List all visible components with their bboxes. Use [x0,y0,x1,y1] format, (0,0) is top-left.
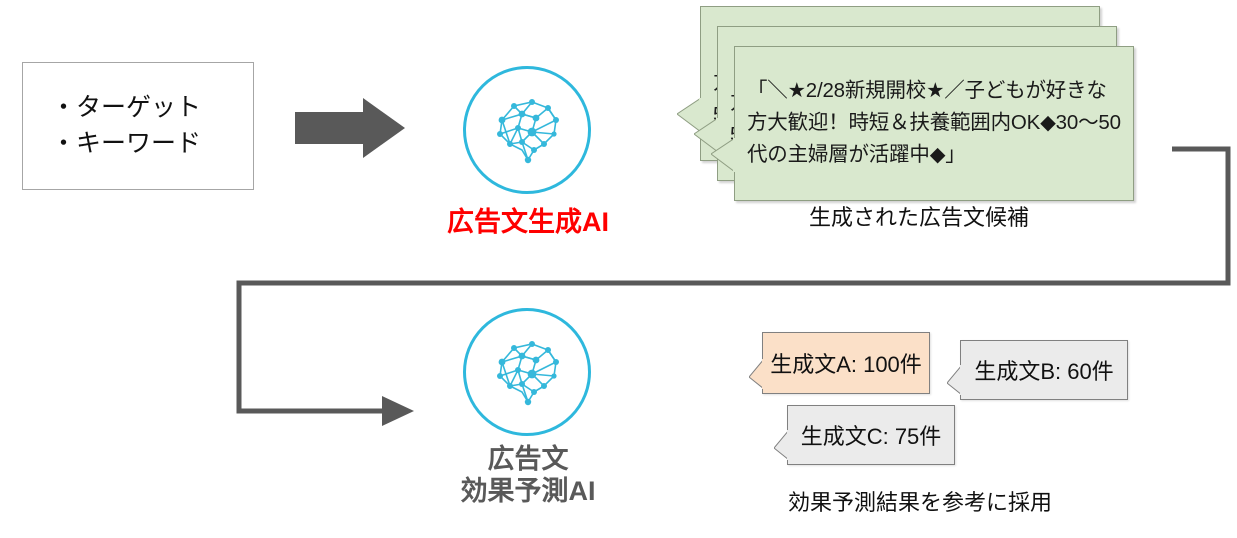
prediction-caption: 効果予測結果を参考に採用 [700,485,1140,517]
brain-network-icon [488,336,566,408]
ai-predict-label-line2: 効果予測AI [400,475,656,507]
prediction-callout-a: 生成文A: 100件 [762,332,930,394]
ai-generate-label: 広告文生成AI [400,200,656,239]
diagram-canvas: ・ターゲット ・キーワード [0,0,1237,538]
brain-network-icon [488,94,566,166]
prediction-callout-c-label: 生成文C: 75件 [788,419,954,451]
input-criteria-lines: ・ターゲット ・キーワード [51,91,201,162]
ai-predict-label: 広告文 効果予測AI [400,443,656,508]
input-line-target: ・ターゲット [51,91,201,127]
input-criteria-box: ・ターゲット ・キーワード [22,62,254,190]
ai-generate-circle [463,66,591,194]
ai-predict-label-line1: 広告文 [400,443,656,475]
prediction-callout-a-label: 生成文A: 100件 [763,347,929,379]
generated-ad-card-front: 「＼★2/28新規開校★／子どもが好きな方大歓迎！時短＆扶養範囲内OK◆30～5… [734,46,1134,201]
input-line-keyword: ・キーワード [51,126,201,162]
generated-ads-caption: 生成された広告文候補 [704,200,1134,232]
prediction-callout-b-label: 生成文B: 60件 [961,354,1127,386]
generated-ad-text: 「＼★2/28新規開校★／子どもが好きな方大歓迎！時短＆扶養範囲内OK◆30～5… [747,75,1123,170]
prediction-callout-c: 生成文C: 75件 [787,405,955,465]
prediction-callout-b: 生成文B: 60件 [960,340,1128,400]
ai-predict-circle [463,308,591,436]
right-block-arrow [295,98,405,158]
